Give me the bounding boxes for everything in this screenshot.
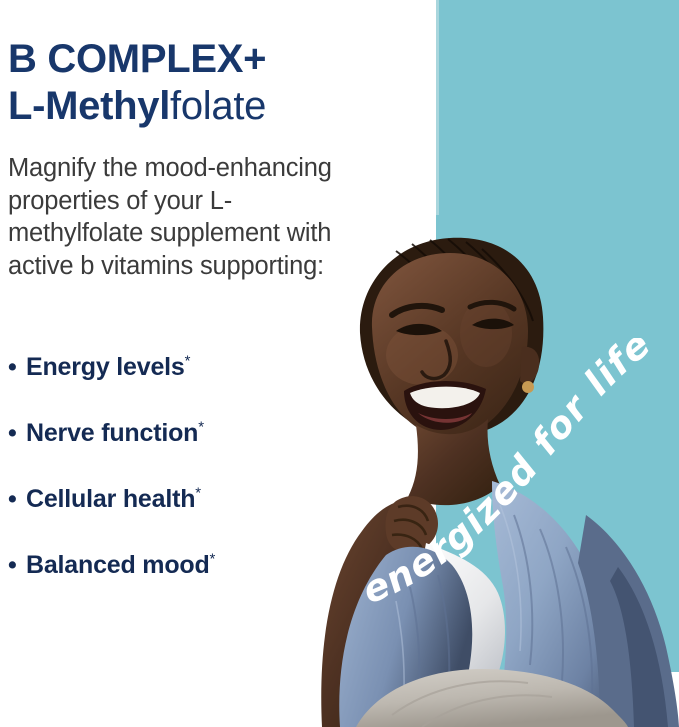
benefit-text: Balanced mood* (26, 550, 215, 580)
list-item: • Cellular health* (8, 484, 408, 550)
product-ad-banner: energized for life. B COMPLEX+ L-Methylf… (0, 0, 679, 727)
headline-line-2-light: folate (170, 84, 266, 128)
lede-paragraph: Magnify the mood-enhancing properties of… (8, 152, 360, 282)
benefit-label: Cellular health (26, 485, 195, 513)
headline-line-1: B COMPLEX+ (8, 37, 266, 81)
asterisk-icon: * (195, 485, 201, 502)
benefits-list: • Energy levels* • Nerve function* • Cel… (8, 352, 408, 616)
bullet-marker: • (8, 550, 26, 580)
text-content-column: B COMPLEX+ L-Methylfolate Magnify the mo… (8, 0, 428, 727)
bullet-marker: • (8, 484, 26, 514)
headline-line-2-bold: L-Methyl (8, 84, 170, 128)
benefit-label: Energy levels (26, 353, 185, 381)
asterisk-icon: * (210, 551, 216, 568)
benefit-label: Balanced mood (26, 551, 210, 579)
benefit-text: Nerve function* (26, 418, 204, 448)
bullet-marker: • (8, 352, 26, 382)
benefit-label: Nerve function (26, 419, 198, 447)
asterisk-icon: * (185, 353, 191, 370)
asterisk-icon: * (198, 419, 204, 436)
benefit-text: Energy levels* (26, 352, 190, 382)
list-item: • Nerve function* (8, 418, 408, 484)
list-item: • Balanced mood* (8, 550, 408, 616)
benefit-text: Cellular health* (26, 484, 201, 514)
bullet-marker: • (8, 418, 26, 448)
page-title: B COMPLEX+ L-Methylfolate (8, 36, 408, 130)
list-item: • Energy levels* (8, 352, 408, 418)
